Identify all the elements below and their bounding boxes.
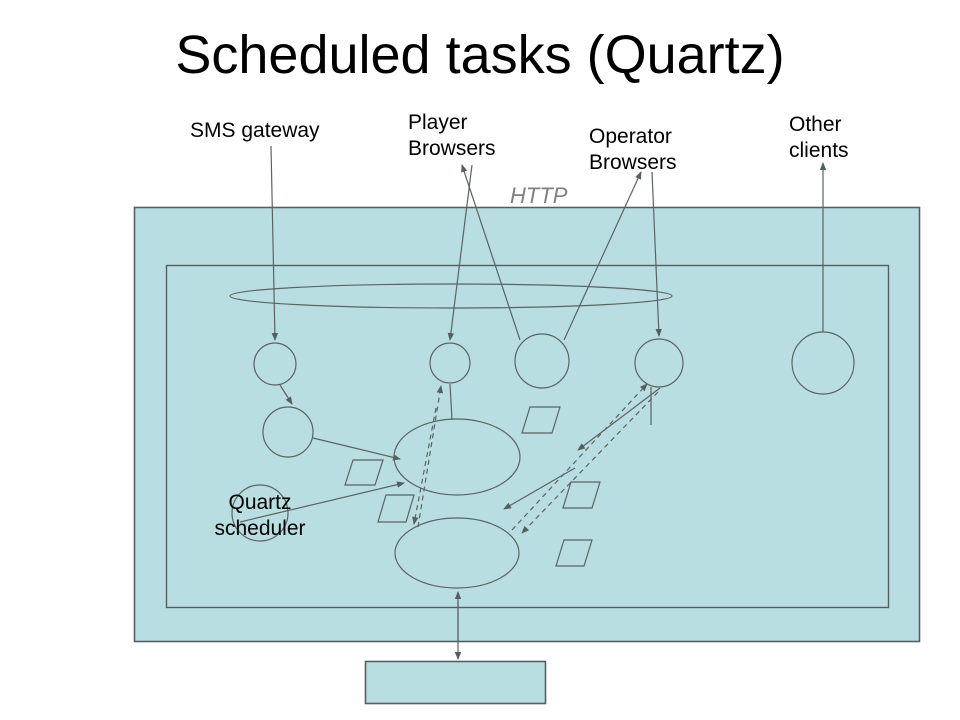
- label-protocol-http: HTTP: [510, 183, 567, 209]
- label-player-browsers: Player Browsers: [408, 110, 496, 162]
- label-operator-browsers: Operator Browsers: [589, 124, 677, 176]
- page-title: Scheduled tasks (Quartz): [0, 25, 960, 85]
- label-other-clients: Other clients: [789, 112, 849, 164]
- label-sms-gateway: SMS gateway: [190, 118, 320, 144]
- datastore-box: [366, 662, 546, 704]
- label-quartz-scheduler: Quartz scheduler: [196, 490, 324, 542]
- slide-canvas: Scheduled tasks (Quartz) SMS gateway Pla…: [0, 0, 960, 720]
- architecture-diagram: [0, 0, 960, 720]
